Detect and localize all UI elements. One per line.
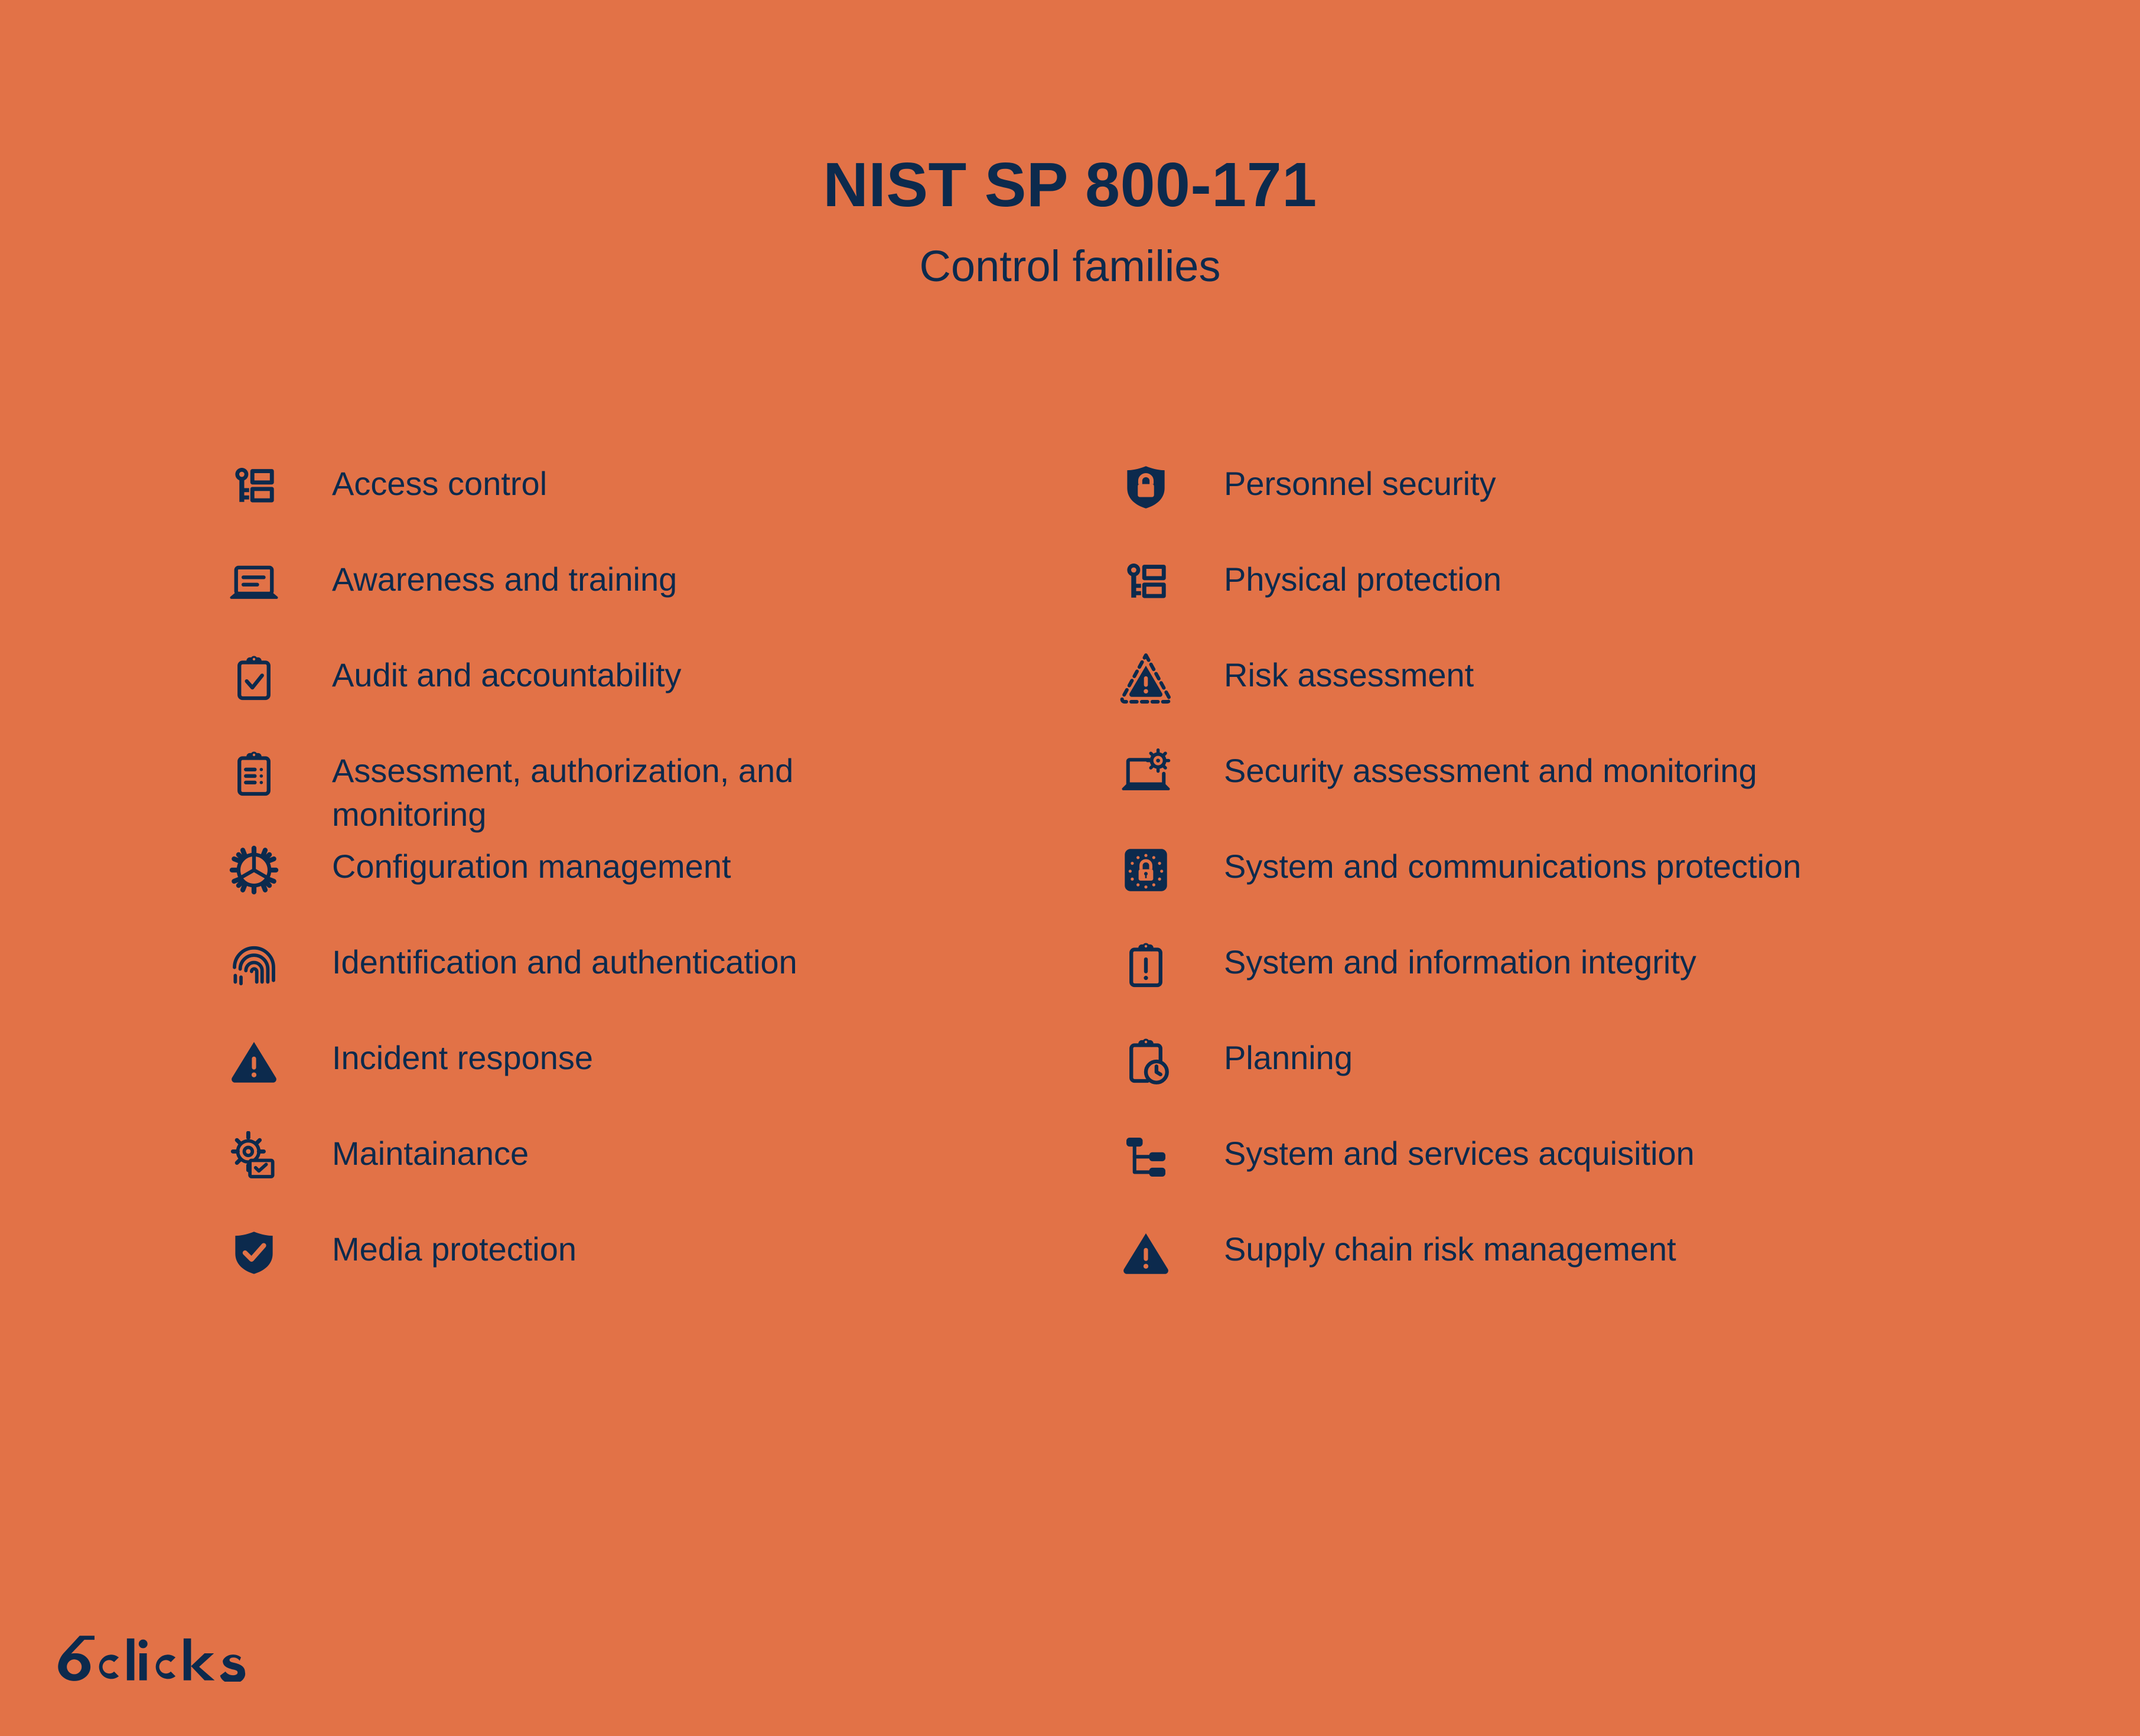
list-item-label: Configuration management	[332, 838, 731, 888]
control-families-left-column: Access control Awareness and training	[228, 455, 1120, 1316]
laptop-gear-icon	[1120, 742, 1224, 803]
list-item-label: Incident response	[332, 1029, 593, 1080]
shield-lock-icon	[1120, 455, 1224, 516]
list-item[interactable]: System and information integrity	[1120, 933, 2012, 1029]
clipboard-clock-icon	[1120, 1029, 1224, 1090]
list-item[interactable]: Audit and accountability	[228, 646, 1120, 742]
key-list-icon	[228, 455, 332, 516]
control-families-right-column: Personnel security Physical protection	[1120, 455, 2012, 1316]
square-lock-dots-icon	[1120, 838, 1224, 899]
dashed-warning-triangle-icon	[1120, 646, 1224, 708]
list-item-label: Planning	[1224, 1029, 1353, 1080]
key-list-icon	[1120, 551, 1224, 612]
list-item[interactable]: Identification and authentication	[228, 933, 1120, 1029]
list-item[interactable]: Risk assessment	[1120, 646, 2012, 742]
list-item-label: Security assessment and monitoring	[1224, 742, 1757, 793]
control-families-columns: Access control Awareness and training	[228, 455, 2012, 1316]
warning-triangle-icon	[1120, 1220, 1224, 1282]
clipboard-check-icon	[228, 646, 332, 708]
list-item-label: Awareness and training	[332, 551, 677, 601]
list-item[interactable]: System and communications protection	[1120, 838, 2012, 933]
list-item-label: Identification and authentication	[332, 933, 797, 984]
list-item-label: Risk assessment	[1224, 646, 1474, 697]
list-item-label: Supply chain risk management	[1224, 1220, 1676, 1271]
list-item[interactable]: System and services acquisition	[1120, 1125, 2012, 1220]
poster-header: NIST SP 800-171 Control families	[0, 151, 2140, 291]
fingerprint-icon	[228, 933, 332, 995]
brand-logo[interactable]	[57, 1634, 259, 1682]
list-item[interactable]: Assessment, authorization, and monitorin…	[228, 742, 1120, 838]
list-item-label: Physical protection	[1224, 551, 1501, 601]
gear-screen-check-icon	[228, 1125, 332, 1186]
sixclicks-logo-icon	[57, 1634, 259, 1682]
list-item-label: Access control	[332, 455, 547, 506]
list-item-label: Assessment, authorization, and monitorin…	[332, 742, 793, 836]
list-item-label: Media protection	[332, 1220, 576, 1271]
list-item[interactable]: Planning	[1120, 1029, 2012, 1125]
list-item[interactable]: Media protection	[228, 1220, 1120, 1316]
list-item-label: System and communications protection	[1224, 838, 1801, 888]
page-title: NIST SP 800-171	[0, 151, 2140, 219]
list-item-label: Personnel security	[1224, 455, 1496, 506]
list-item[interactable]: Incident response	[228, 1029, 1120, 1125]
list-item[interactable]: Maintainance	[228, 1125, 1120, 1220]
list-item[interactable]: Access control	[228, 455, 1120, 551]
list-item[interactable]: Supply chain risk management	[1120, 1220, 2012, 1316]
warning-triangle-icon	[228, 1029, 332, 1090]
clipboard-alert-icon	[1120, 933, 1224, 995]
poster-canvas: NIST SP 800-171 Control families	[0, 0, 2140, 1736]
list-item[interactable]: Configuration management	[228, 838, 1120, 933]
list-item[interactable]: Physical protection	[1120, 551, 2012, 646]
clipboard-list-icon	[228, 742, 332, 803]
list-item[interactable]: Personnel security	[1120, 455, 2012, 551]
gear-icon	[228, 838, 332, 899]
list-item-label: System and information integrity	[1224, 933, 1696, 984]
list-item[interactable]: Security assessment and monitoring	[1120, 742, 2012, 838]
list-item[interactable]: Awareness and training	[228, 551, 1120, 646]
list-item-label: Maintainance	[332, 1125, 529, 1175]
hierarchy-icon	[1120, 1125, 1224, 1186]
laptop-lines-icon	[228, 551, 332, 612]
list-item-label: System and services acquisition	[1224, 1125, 1695, 1175]
list-item-label: Audit and accountability	[332, 646, 682, 697]
page-subtitle: Control families	[0, 242, 2140, 290]
shield-check-icon	[228, 1220, 332, 1282]
